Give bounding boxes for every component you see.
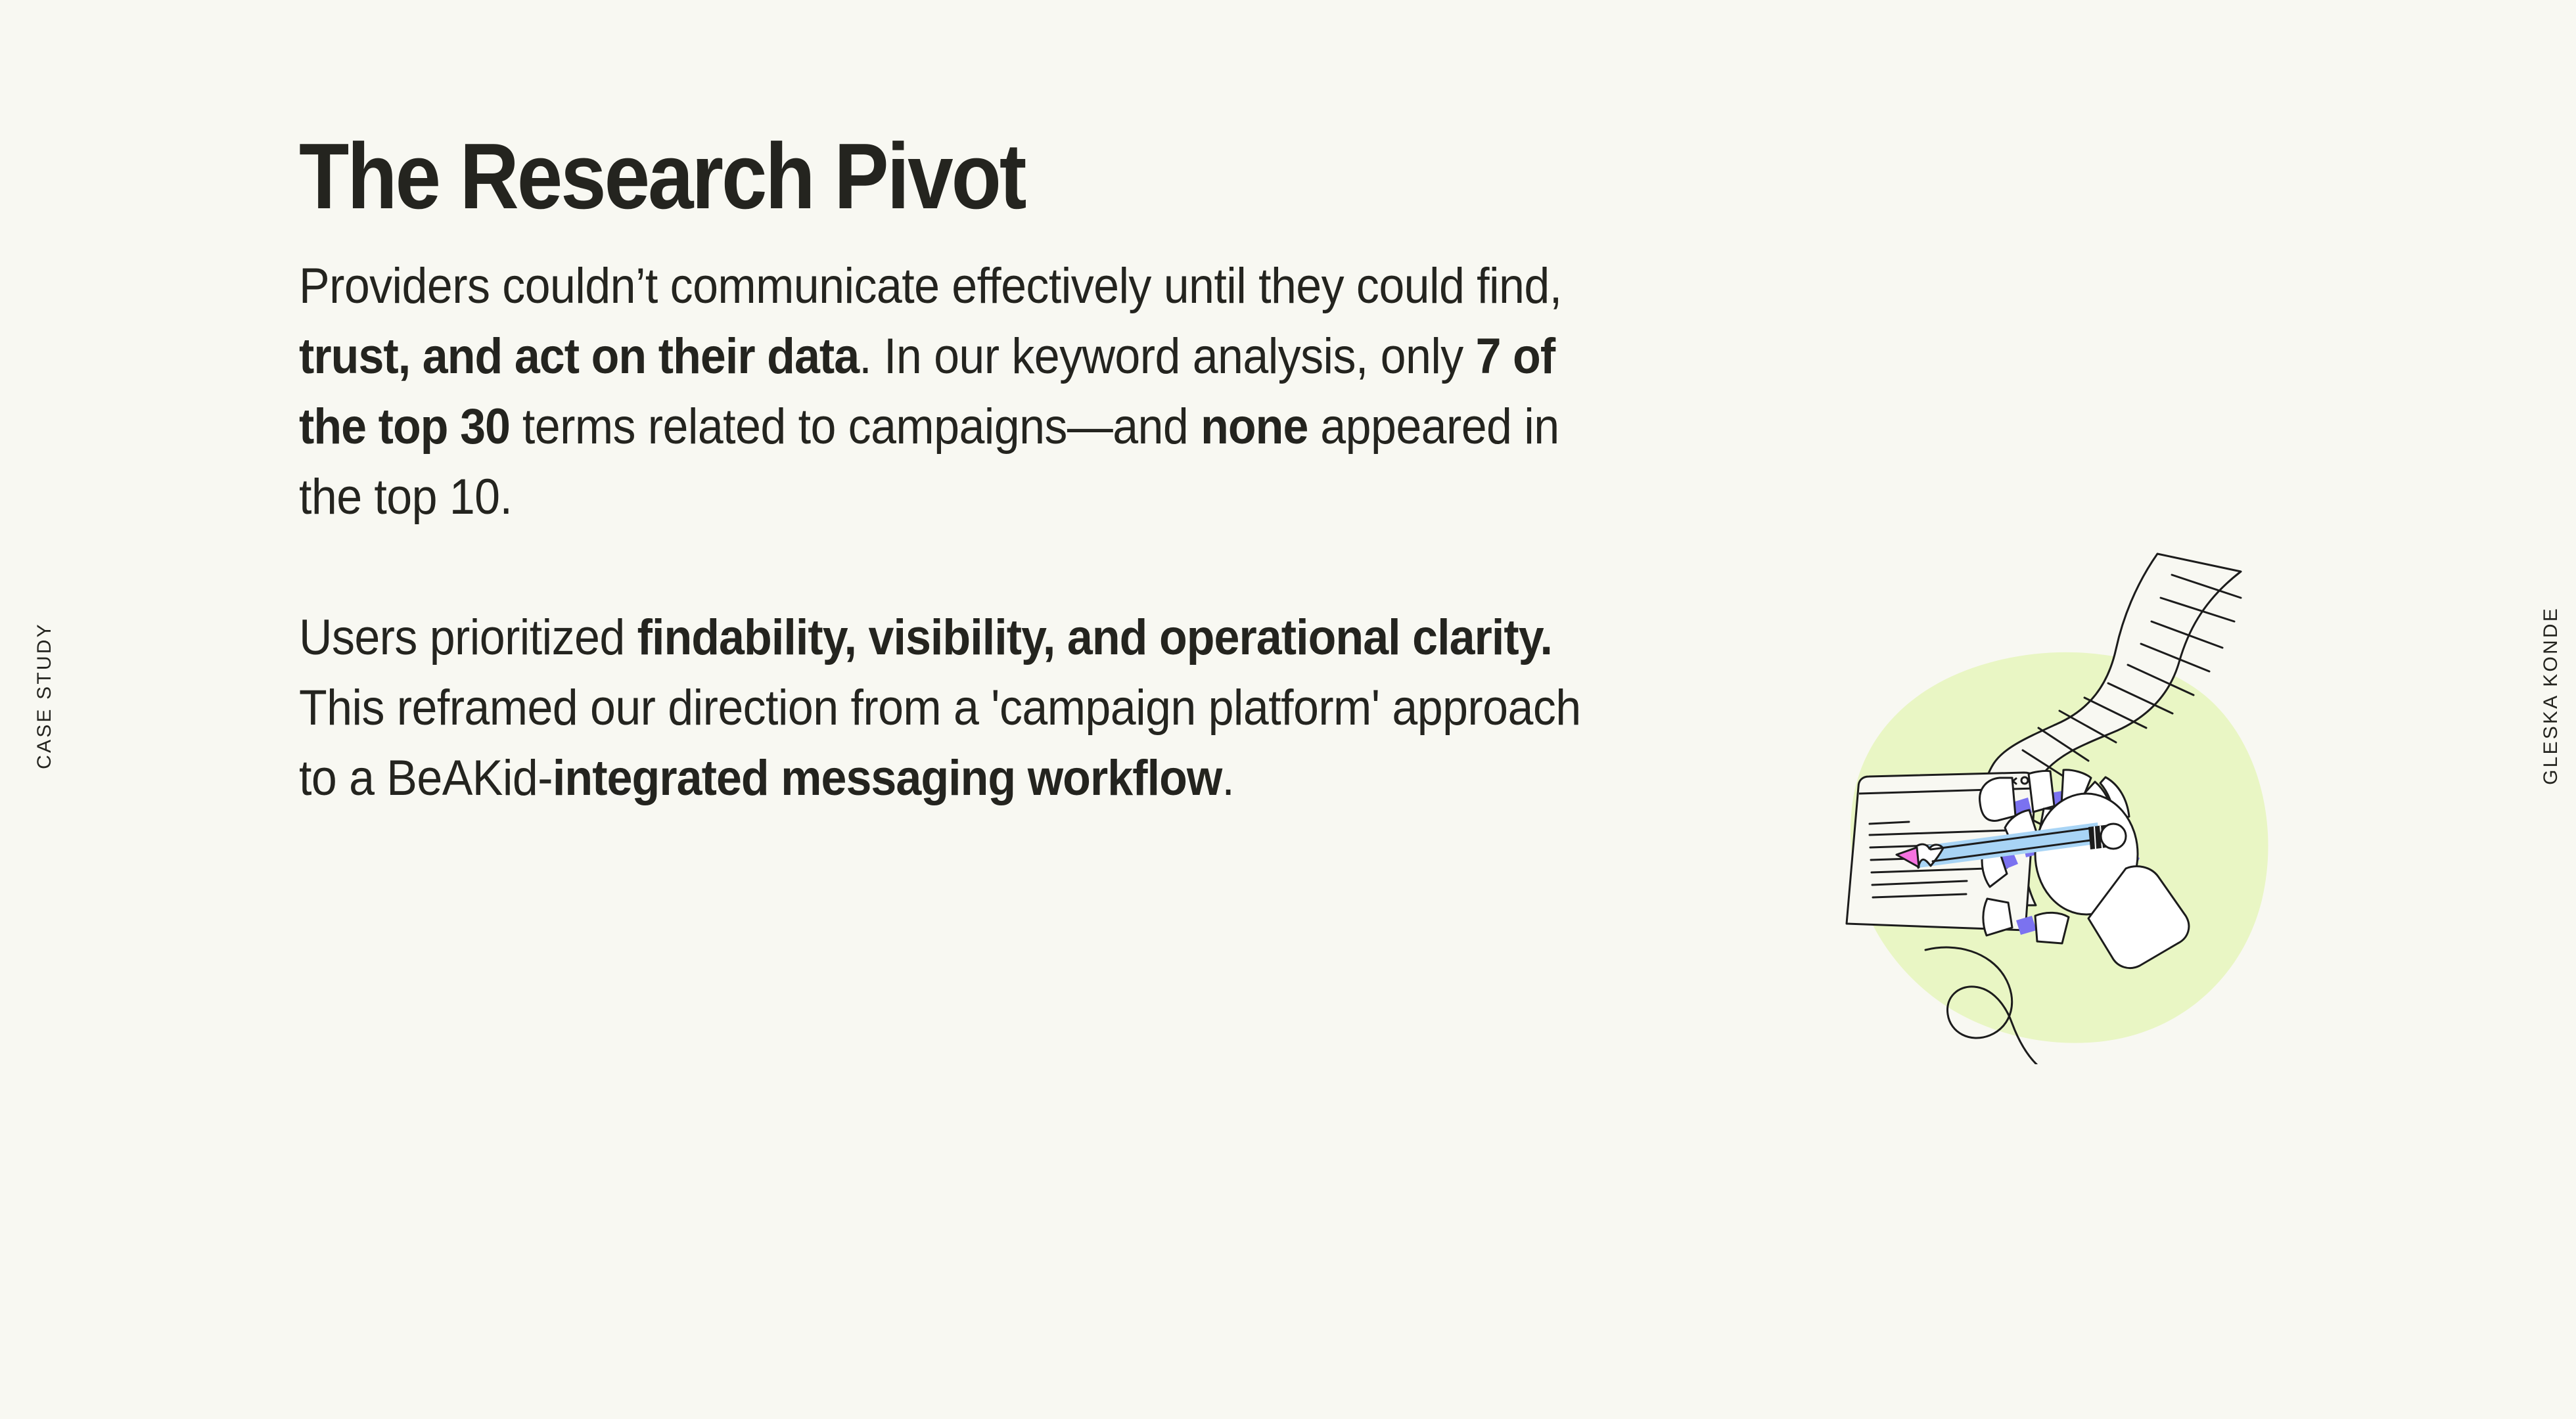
robot-finger-segment	[1983, 899, 2012, 935]
edge-label-case-study: CASE STUDY	[34, 610, 56, 781]
para1-segment-1: Providers couldn’t communicate effective…	[299, 258, 1562, 314]
robot-hand-writing-illustration	[1781, 519, 2307, 1064]
para1-segment-3: . In our keyword analysis, only	[859, 328, 1475, 384]
body-paragraph-2: Users prioritized findability, visibilit…	[299, 602, 1617, 813]
pencil-eraser	[2101, 824, 2126, 849]
edge-label-gleska-konde: GLESKA KONDE	[2540, 584, 2562, 807]
para2-segment-5: .	[1222, 750, 1234, 806]
slide-canvas: CASE STUDY GLESKA KONDE The Research Piv…	[0, 0, 2576, 1419]
text-content-block: The Research Pivot Providers couldn’t co…	[299, 130, 1732, 813]
robot-finger-segment	[2029, 771, 2054, 812]
para1-emphasis-none: none	[1201, 399, 1308, 455]
para2-segment-1: Users prioritized	[299, 610, 637, 665]
para2-emphasis-integrated-messaging-workflow: integrated messaging workflow	[553, 750, 1222, 806]
para2-emphasis-findability-visibility-clarity: findability, visibility, and operational…	[637, 610, 1552, 665]
page-title: The Research Pivot	[299, 130, 1559, 223]
para1-emphasis-trust-act-data: trust, and act on their data	[299, 328, 859, 384]
body-paragraph-1: Providers couldn’t communicate effective…	[299, 251, 1617, 532]
para1-segment-5: terms related to campaigns—and	[510, 399, 1201, 455]
robot-finger-segment	[2035, 912, 2069, 943]
robot-finger-segment	[1980, 778, 2015, 821]
